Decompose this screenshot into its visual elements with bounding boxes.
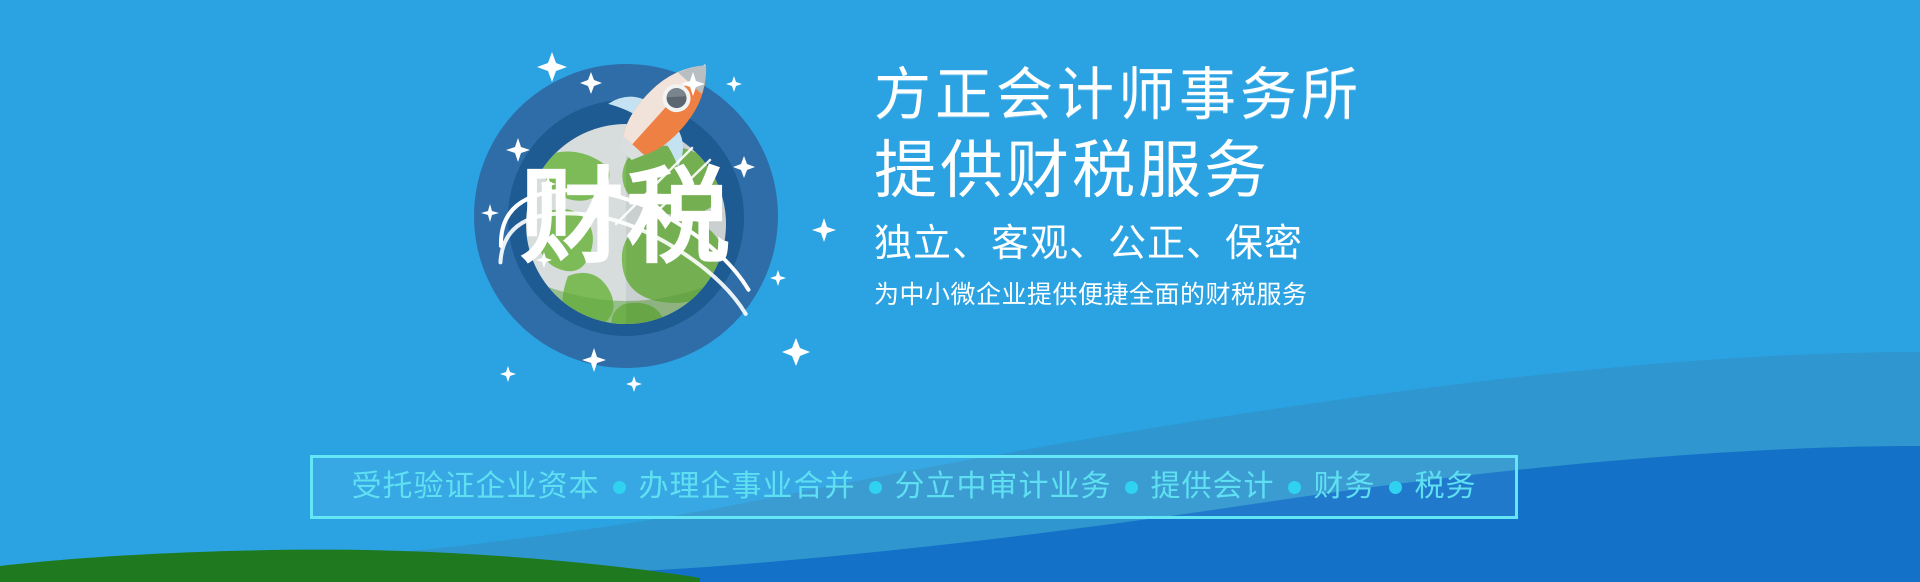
services-separator-dot — [869, 481, 882, 494]
logo-badge: 财税 — [448, 28, 840, 396]
service-item: 办理企事业合并 — [639, 471, 856, 503]
service-item: 分立中审计业务 — [895, 471, 1112, 503]
badge-text: 财税 — [520, 160, 732, 276]
service-item: 受托验证企业资本 — [352, 471, 600, 503]
headline-copy-block: 方正会计师事务所 提供财税服务 独立、客观、公正、保密 为中小微企业提供便捷全面… — [874, 60, 1494, 312]
services-separator-dot — [1288, 481, 1301, 494]
service-item: 税务 — [1415, 471, 1477, 503]
headline-subtitle: 为中小微企业提供便捷全面的财税服务 — [874, 278, 1494, 312]
services-bar: 受托验证企业资本办理企事业合并分立中审计业务提供会计财务税务 — [310, 455, 1518, 519]
headline-primary: 方正会计师事务所 — [874, 60, 1494, 130]
globe-rocket-illustration: 财税 — [448, 28, 840, 396]
service-item: 财务 — [1314, 471, 1376, 503]
services-list: 受托验证企业资本办理企事业合并分立中审计业务提供会计财务税务 — [352, 471, 1477, 503]
promotional-banner: 财税 — [0, 0, 1920, 582]
headline-values: 独立、客观、公正、保密 — [874, 218, 1494, 270]
services-separator-dot — [1389, 481, 1402, 494]
headline-secondary: 提供财税服务 — [874, 132, 1494, 210]
services-separator-dot — [1125, 481, 1138, 494]
service-item: 提供会计 — [1151, 471, 1275, 503]
services-separator-dot — [613, 481, 626, 494]
